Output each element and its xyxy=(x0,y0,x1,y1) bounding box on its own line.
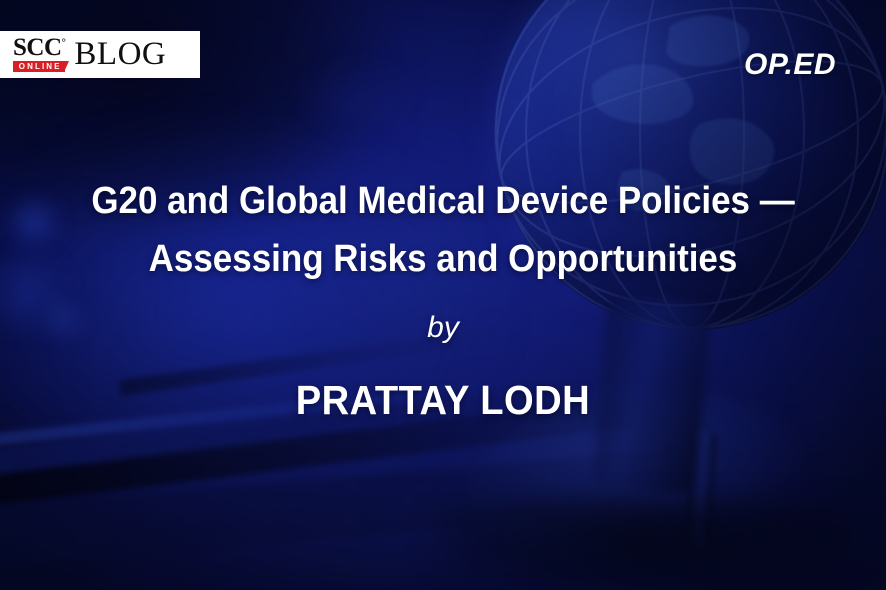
article-title-line-1: G20 and Global Medical Device Policies — xyxy=(35,172,850,230)
logo-scc-text: SCC° xyxy=(13,37,65,59)
category-label-oped: OP.ED xyxy=(744,48,836,82)
byline-connector: by xyxy=(0,310,886,346)
scc-online-blog-logo[interactable]: SCC° ONLINE BLOG xyxy=(0,31,200,78)
author-name: PRATTAY LODH xyxy=(31,375,855,425)
logo-online-badge: ONLINE xyxy=(13,61,65,72)
logo-registered-mark: ° xyxy=(62,37,66,49)
op-ed-article-banner: SCC° ONLINE BLOG OP.ED G20 and Global Me… xyxy=(0,0,886,590)
article-title-line-2: Assessing Risks and Opportunities xyxy=(35,230,850,288)
banner-content: SCC° ONLINE BLOG OP.ED G20 and Global Me… xyxy=(0,0,886,590)
logo-blog-text: BLOG xyxy=(74,38,166,71)
scc-online-mark: SCC° ONLINE xyxy=(13,37,65,72)
logo-scc-letters: SCC xyxy=(13,34,62,61)
article-title: G20 and Global Medical Device Policies —… xyxy=(0,172,886,288)
